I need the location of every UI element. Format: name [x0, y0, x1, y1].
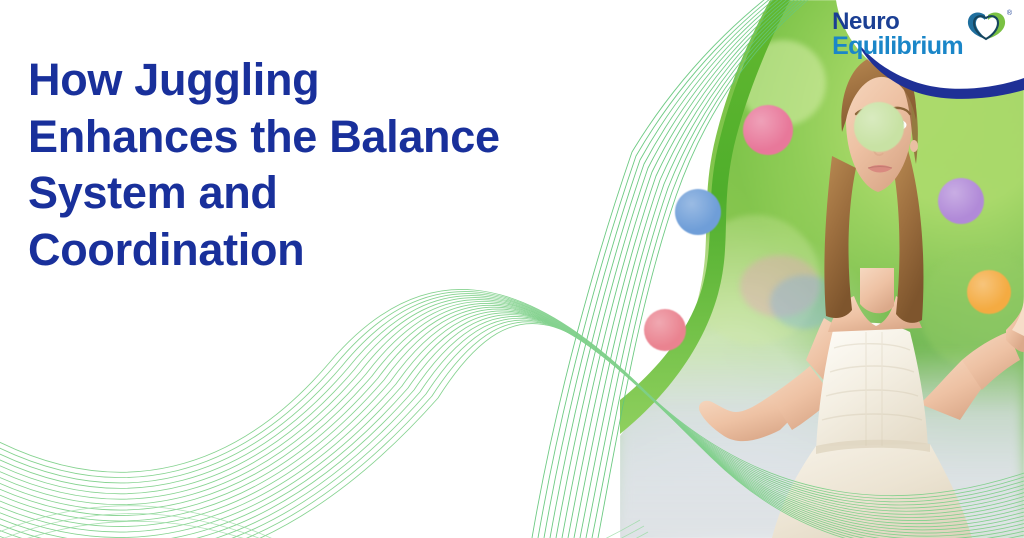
registered-trademark-icon: ®	[1007, 10, 1012, 17]
dress-skirt	[772, 444, 972, 538]
headline-line-3: System and	[28, 165, 628, 222]
juggling-woman-figure	[620, 0, 1024, 538]
neck	[860, 268, 894, 313]
ball-blue	[675, 189, 721, 235]
wave-line-cluster-bottom	[0, 506, 648, 538]
right-fingers	[1012, 296, 1024, 336]
logo-wordmark: Neuro Equilibrium	[832, 10, 963, 58]
marketing-banner: Neuro Equilibrium ® How Juggling Enhance…	[0, 0, 1024, 538]
ball-orange	[967, 270, 1011, 314]
headline-line-2: Enhances the Balance	[28, 109, 628, 166]
ball-pale-green	[854, 102, 904, 152]
ball-pink-left	[644, 309, 686, 351]
logo-symbol-icon: ®	[966, 11, 1008, 41]
page-title: How Juggling Enhances the Balance System…	[28, 52, 628, 279]
brand-logo[interactable]: Neuro Equilibrium ®	[832, 10, 1008, 58]
logo-center-dot	[983, 23, 990, 30]
logo-word-equilibrium: Equilibrium	[832, 34, 963, 59]
ball-purple	[938, 178, 984, 224]
ear	[910, 140, 918, 152]
dress-bodice	[816, 323, 928, 450]
hair-back-left	[824, 156, 856, 318]
logo-word-neuro: Neuro	[832, 10, 963, 34]
hero-photo	[620, 0, 1024, 538]
headline-line-1: How Juggling	[28, 52, 628, 109]
ball-pink-top	[743, 105, 793, 155]
headline-line-4: Coordination	[28, 222, 628, 279]
